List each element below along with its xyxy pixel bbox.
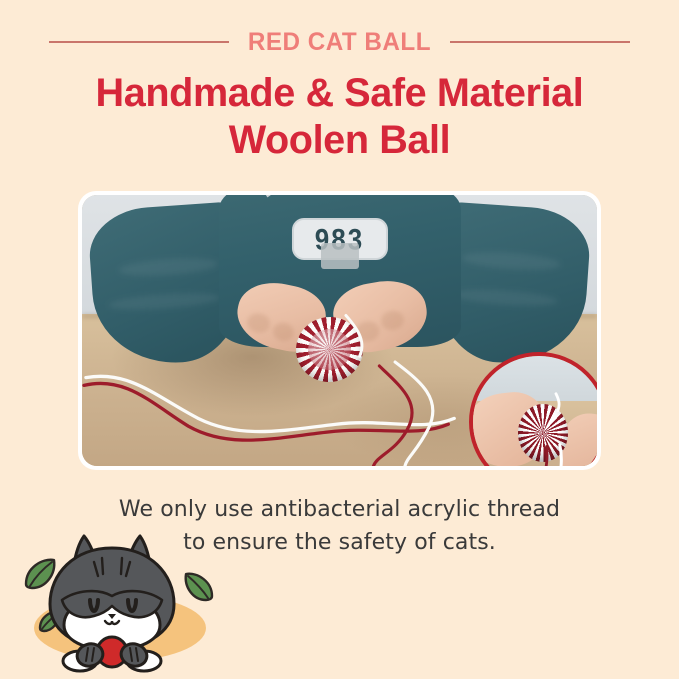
eyebrow-row: RED CAT BALL [0,26,679,58]
leaf-icon-left [26,560,54,588]
product-photo: MIDNIGHT 983 [82,195,597,466]
eyebrow-text: RED CAT BALL [248,30,431,55]
heading-line-1: Handmade & Safe Material [3,70,675,117]
eyebrow-rule-right [450,41,630,43]
caption-line-1: We only use antibacterial acrylic thread [0,494,679,527]
product-infographic: RED CAT BALL Handmade & Safe Material Wo… [0,0,679,679]
product-photo-card: MIDNIGHT 983 [78,191,601,470]
photo-closeup-inset [469,352,597,466]
cat-mascot-illustration [2,524,232,679]
heading-line-2: Woolen Ball [3,117,675,164]
eyebrow-rule-left [49,41,229,43]
inset-threads [473,356,597,466]
page-title: Handmade & Safe Material Woolen Ball [0,70,679,164]
leaf-icon-right [186,574,212,600]
